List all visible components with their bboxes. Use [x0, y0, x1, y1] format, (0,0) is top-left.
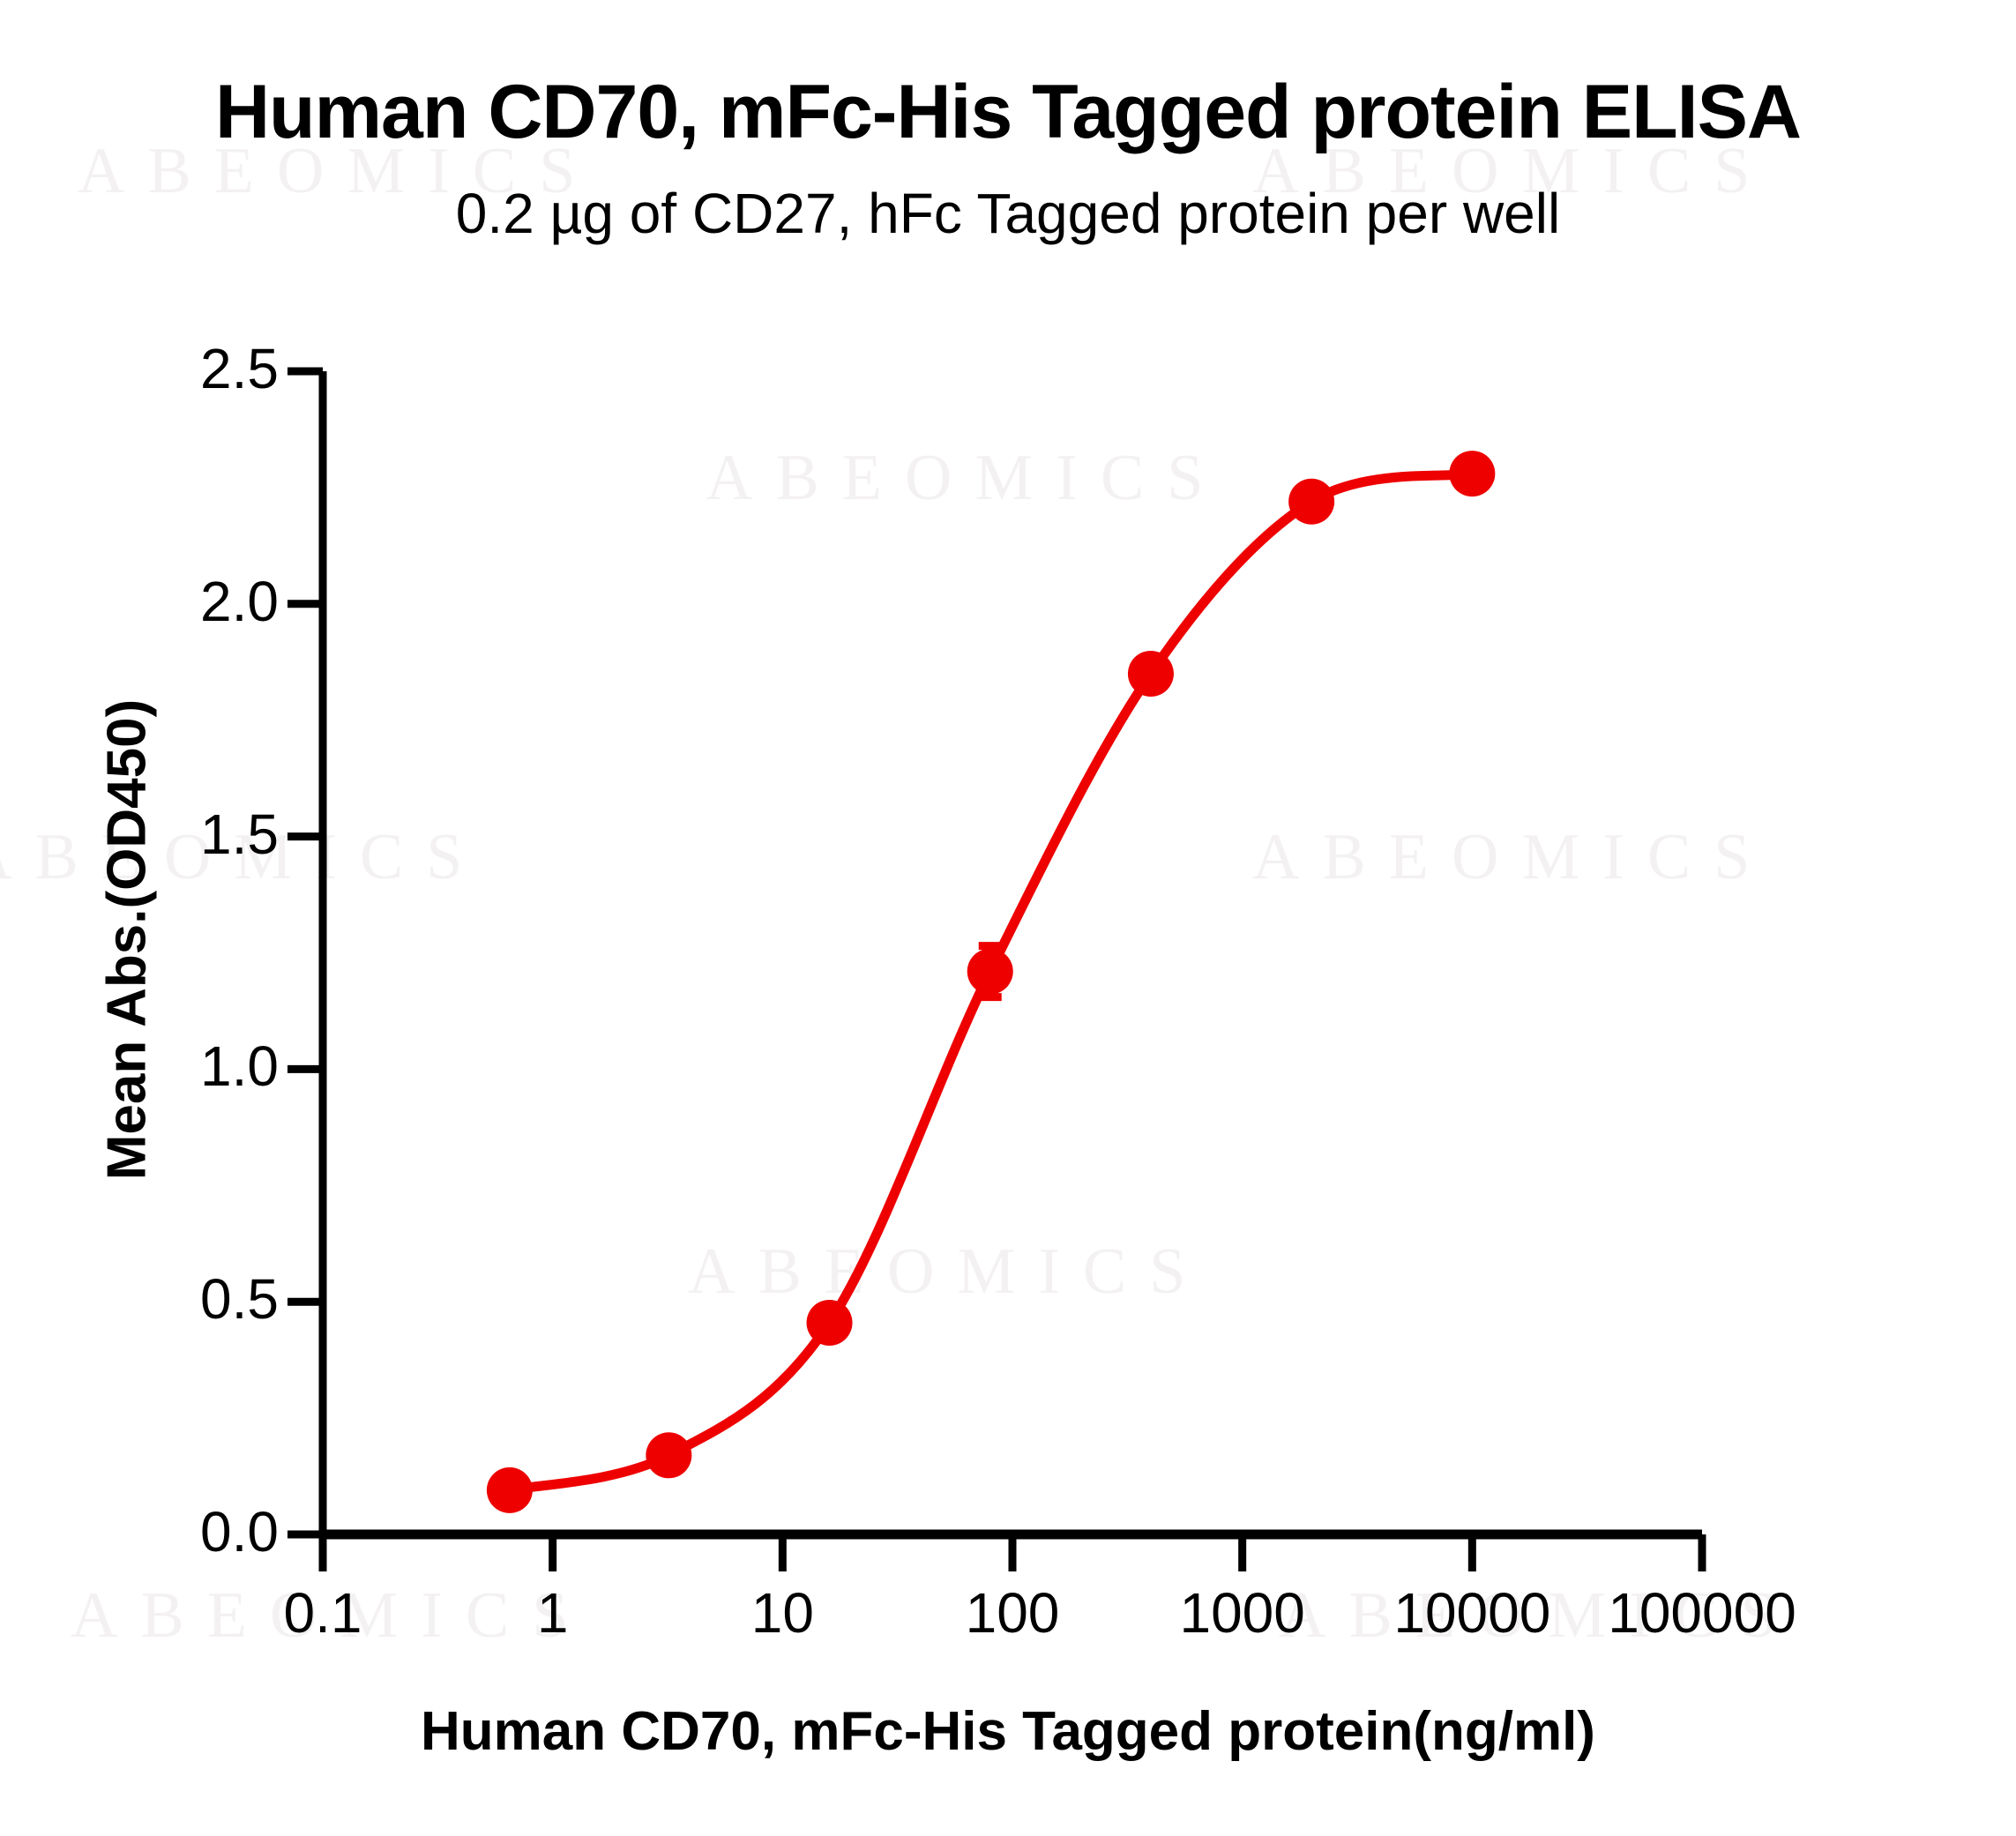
data-point-marker: [1128, 651, 1174, 697]
x-tick-label: 10000: [1340, 1580, 1604, 1646]
x-tick-label: 1: [421, 1580, 685, 1646]
data-point-marker: [1288, 479, 1334, 525]
x-tick-label: 10: [650, 1580, 915, 1646]
x-tick-label: 100000: [1570, 1580, 1834, 1646]
x-tick-label: 1000: [1110, 1580, 1375, 1646]
y-tick-label: 1.0: [76, 1034, 279, 1099]
y-tick-label: 0.0: [76, 1499, 279, 1564]
data-point-marker: [487, 1467, 533, 1513]
axes: [323, 371, 1702, 1534]
elisa-chart-figure: ABEOMICS ABEOMICS ABEOMICS ABEOMICS ABEO…: [0, 0, 2016, 1836]
data-point-marker: [967, 949, 1013, 995]
y-tick-label: 2.0: [76, 569, 279, 634]
y-tick-label: 2.5: [76, 336, 279, 401]
x-tick-label: 100: [880, 1580, 1145, 1646]
x-tick-label: 0.1: [190, 1580, 455, 1646]
y-tick-label: 0.5: [76, 1266, 279, 1332]
data-point-marker: [646, 1432, 691, 1478]
data-point-marker: [1449, 451, 1495, 496]
y-tick-label: 1.5: [76, 802, 279, 867]
data-series: [487, 451, 1495, 1513]
plot-area: [0, 0, 2016, 1836]
data-point-marker: [807, 1300, 853, 1346]
